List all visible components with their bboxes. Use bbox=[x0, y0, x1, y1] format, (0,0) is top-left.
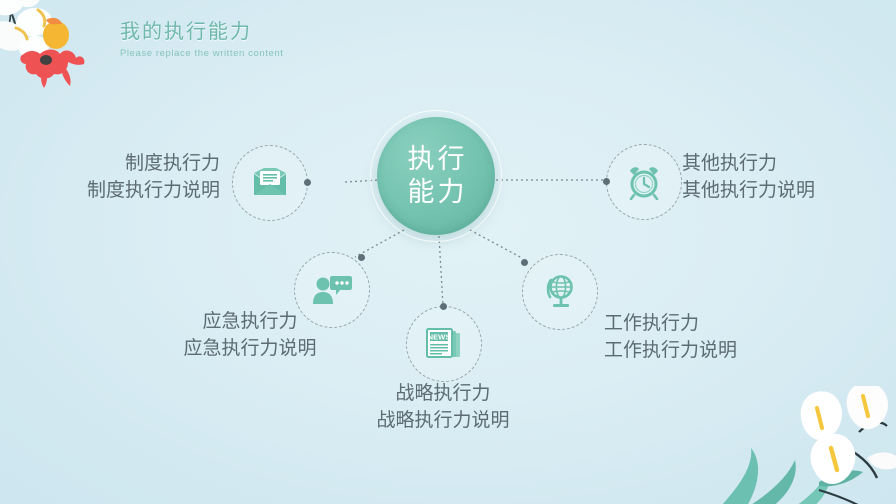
connector-emergency bbox=[355, 230, 404, 257]
page-title: 我的执行能力 bbox=[120, 18, 284, 46]
person-chat-icon bbox=[312, 274, 352, 306]
node-dot-strategy bbox=[440, 303, 447, 310]
hub-line-1: 执行 bbox=[405, 143, 468, 176]
node-dot-other bbox=[603, 178, 610, 185]
newspaper-label: NEWS bbox=[428, 332, 451, 341]
label-work-desc: 工作执行力说明 bbox=[604, 337, 824, 364]
node-dot-system bbox=[304, 179, 311, 186]
label-strategy-title: 战略执行力 bbox=[333, 380, 553, 407]
label-work: 工作执行力 工作执行力说明 bbox=[604, 310, 824, 364]
label-strategy-desc: 战略执行力说明 bbox=[333, 407, 553, 434]
center-hub[interactable]: 执行 能力 bbox=[377, 117, 495, 235]
label-system-title: 制度执行力 bbox=[60, 150, 220, 177]
slide-header: 我的执行能力 Please replace the written conten… bbox=[120, 18, 284, 59]
connector-strategy bbox=[439, 236, 443, 306]
hub-line-2: 能力 bbox=[405, 176, 468, 209]
connector-work bbox=[470, 230, 522, 258]
slide-canvas: 我的执行能力 Please replace the written conten… bbox=[0, 0, 896, 504]
node-dot-emergency bbox=[358, 254, 365, 261]
envelope-icon bbox=[252, 168, 288, 198]
label-emergency: 应急执行力 应急执行力说明 bbox=[140, 308, 360, 362]
label-other: 其他执行力 其他执行力说明 bbox=[682, 150, 882, 204]
node-strategy[interactable]: NEWS bbox=[406, 306, 482, 382]
label-system-desc: 制度执行力说明 bbox=[60, 177, 220, 204]
page-subtitle: Please replace the written content bbox=[120, 48, 284, 59]
label-system: 制度执行力 制度执行力说明 bbox=[60, 150, 220, 204]
label-strategy: 战略执行力 战略执行力说明 bbox=[333, 380, 553, 434]
flower-decoration-top-left bbox=[0, 0, 122, 110]
label-work-title: 工作执行力 bbox=[604, 310, 824, 337]
flower-decoration-bottom-right bbox=[691, 386, 896, 504]
globe-icon bbox=[542, 274, 578, 310]
alarm-clock-icon bbox=[626, 164, 662, 200]
label-emergency-desc: 应急执行力说明 bbox=[140, 335, 360, 362]
node-dot-work bbox=[521, 259, 528, 266]
label-emergency-title: 应急执行力 bbox=[140, 308, 360, 335]
node-system[interactable] bbox=[232, 145, 308, 221]
node-other[interactable] bbox=[606, 144, 682, 220]
label-other-desc: 其他执行力说明 bbox=[682, 177, 882, 204]
node-work[interactable] bbox=[522, 254, 598, 330]
label-other-title: 其他执行力 bbox=[682, 150, 882, 177]
newspaper-icon: NEWS bbox=[425, 327, 463, 361]
